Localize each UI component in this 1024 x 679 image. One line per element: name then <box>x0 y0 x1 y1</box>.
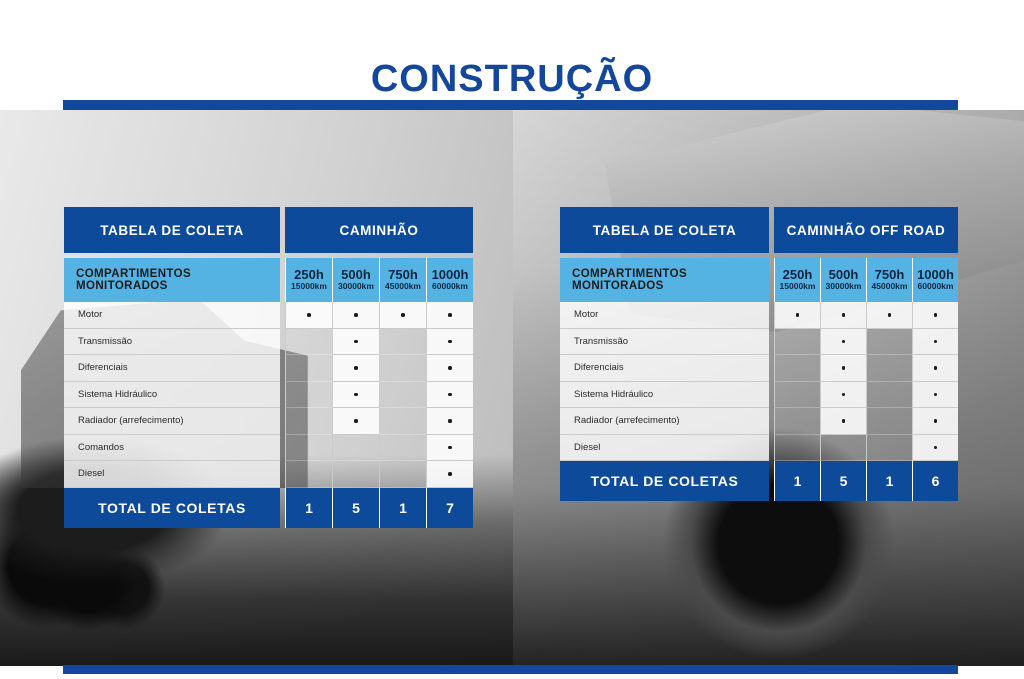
compartment-label: Motor <box>64 302 280 329</box>
bullet-icon <box>448 472 452 476</box>
interval-km: 60000km <box>918 282 954 292</box>
table-subheader-row: COMPARTIMENTOS MONITORADOS250h15000km500… <box>64 258 473 302</box>
interval-km: 15000km <box>291 282 327 292</box>
collection-mark-cell <box>866 302 912 329</box>
table-footer-row: TOTAL DE COLETAS1516 <box>560 461 958 501</box>
empty-cell <box>285 435 332 462</box>
footer-total-value: 1 <box>379 488 426 528</box>
table-row: Motor <box>560 302 958 329</box>
compartment-label: Diesel <box>560 435 769 462</box>
collection-mark-cell <box>426 302 473 329</box>
bullet-icon <box>842 340 846 344</box>
empty-cell <box>379 461 426 488</box>
interval-column-header: 250h15000km <box>285 258 332 302</box>
interval-column-header: 500h30000km <box>820 258 866 302</box>
table-footer-row: TOTAL DE COLETAS1517 <box>64 488 473 528</box>
empty-cell <box>774 355 820 382</box>
collection-mark-cell <box>820 302 866 329</box>
compartment-label: Radiador (arrefecimento) <box>64 408 280 435</box>
interval-km: 45000km <box>872 282 908 292</box>
empty-cell <box>332 435 379 462</box>
empty-cell <box>379 435 426 462</box>
compartment-label: Comandos <box>64 435 280 462</box>
bullet-icon <box>448 419 452 423</box>
table-header-row: TABELA DE COLETACAMINHÃO <box>64 207 473 253</box>
bullet-icon <box>354 419 358 423</box>
compartment-label: Sistema Hidráulico <box>64 382 280 409</box>
footer-total-value: 7 <box>426 488 473 528</box>
interval-column-header: 750h45000km <box>866 258 912 302</box>
collection-mark-cell <box>820 355 866 382</box>
collection-mark-cell <box>426 461 473 488</box>
bullet-icon <box>354 393 358 397</box>
interval-km: 45000km <box>385 282 421 292</box>
compartment-label: Transmissão <box>64 329 280 356</box>
compartment-label: Transmissão <box>560 329 769 356</box>
compartment-label: Motor <box>560 302 769 329</box>
interval-hours: 750h <box>388 268 418 282</box>
empty-cell <box>774 435 820 462</box>
table-row: Sistema Hidráulico <box>64 382 473 409</box>
collection-mark-cell <box>426 435 473 462</box>
interval-km: 30000km <box>826 282 862 292</box>
footer-total-value: 5 <box>820 461 866 501</box>
footer-total-value: 1 <box>866 461 912 501</box>
bullet-icon <box>934 313 938 317</box>
subheader-compartments-label: COMPARTIMENTOS MONITORADOS <box>64 258 280 302</box>
collection-mark-cell <box>426 329 473 356</box>
table-header-title: TABELA DE COLETA <box>64 207 280 253</box>
collection-mark-cell <box>912 302 958 329</box>
table-header-vehicle: CAMINHÃO OFF ROAD <box>774 207 958 253</box>
bullet-icon <box>401 313 405 317</box>
page-title: CONSTRUÇÃO <box>0 58 1024 101</box>
bullet-icon <box>796 313 800 317</box>
table-row: Diesel <box>560 435 958 462</box>
interval-column-header: 1000h60000km <box>912 258 958 302</box>
bullet-icon <box>448 313 452 317</box>
bullet-icon <box>934 340 938 344</box>
empty-cell <box>285 461 332 488</box>
title-underline-bar <box>63 100 958 110</box>
collection-mark-cell <box>332 302 379 329</box>
bullet-icon <box>842 419 846 423</box>
table-row: Transmissão <box>64 329 473 356</box>
empty-cell <box>866 355 912 382</box>
bullet-icon <box>354 366 358 370</box>
empty-cell <box>332 461 379 488</box>
compartment-label: Radiador (arrefecimento) <box>560 408 769 435</box>
bullet-icon <box>934 446 938 450</box>
collection-mark-cell <box>426 408 473 435</box>
table-row: Comandos <box>64 435 473 462</box>
interval-column-header: 1000h60000km <box>426 258 473 302</box>
empty-cell <box>285 329 332 356</box>
interval-hours: 500h <box>829 268 859 282</box>
page-title-wrap: CONSTRUÇÃO <box>0 58 1024 101</box>
interval-km: 30000km <box>338 282 374 292</box>
collection-mark-cell <box>285 302 332 329</box>
interval-hours: 500h <box>341 268 371 282</box>
empty-cell <box>774 382 820 409</box>
compartment-label: Diferenciais <box>64 355 280 382</box>
empty-cell <box>379 382 426 409</box>
collection-mark-cell <box>426 382 473 409</box>
collection-mark-cell <box>332 329 379 356</box>
bullet-icon <box>448 366 452 370</box>
empty-cell <box>866 408 912 435</box>
table-row: Diferenciais <box>560 355 958 382</box>
bullet-icon <box>842 393 846 397</box>
table-row: Radiador (arrefecimento) <box>560 408 958 435</box>
collection-mark-cell <box>912 435 958 462</box>
table-header-vehicle: CAMINHÃO <box>285 207 473 253</box>
compartment-label: Diesel <box>64 461 280 488</box>
interval-column-header: 750h45000km <box>379 258 426 302</box>
interval-hours: 1000h <box>432 268 469 282</box>
empty-cell <box>379 408 426 435</box>
bullet-icon <box>448 340 452 344</box>
interval-column-header: 500h30000km <box>332 258 379 302</box>
table-header-row: TABELA DE COLETACAMINHÃO OFF ROAD <box>560 207 958 253</box>
collection-mark-cell <box>820 382 866 409</box>
collection-mark-cell <box>820 329 866 356</box>
empty-cell <box>866 329 912 356</box>
interval-km: 15000km <box>780 282 816 292</box>
table-row: Diesel <box>64 461 473 488</box>
footer-total-value: 5 <box>332 488 379 528</box>
empty-cell <box>866 382 912 409</box>
collection-mark-cell <box>774 302 820 329</box>
footer-total-value: 6 <box>912 461 958 501</box>
footer-total-value: 1 <box>285 488 332 528</box>
footer-total-label: TOTAL DE COLETAS <box>64 488 280 528</box>
bullet-icon <box>448 393 452 397</box>
subheader-compartments-label: COMPARTIMENTOS MONITORADOS <box>560 258 769 302</box>
collection-mark-cell <box>912 329 958 356</box>
table-row: Diferenciais <box>64 355 473 382</box>
table-row: Transmissão <box>560 329 958 356</box>
table-header-title: TABELA DE COLETA <box>560 207 769 253</box>
collection-table-caminhao-off-road: TABELA DE COLETACAMINHÃO OFF ROADCOMPART… <box>560 207 958 501</box>
bullet-icon <box>934 366 938 370</box>
collection-mark-cell <box>912 408 958 435</box>
collection-table-caminhao: TABELA DE COLETACAMINHÃOCOMPARTIMENTOS M… <box>64 207 473 528</box>
collection-mark-cell <box>912 355 958 382</box>
collection-mark-cell <box>332 355 379 382</box>
empty-cell <box>866 435 912 462</box>
table-row: Sistema Hidráulico <box>560 382 958 409</box>
footer-total-value: 1 <box>774 461 820 501</box>
collection-mark-cell <box>820 408 866 435</box>
bullet-icon <box>842 366 846 370</box>
table-row: Motor <box>64 302 473 329</box>
collection-mark-cell <box>332 408 379 435</box>
collection-mark-cell <box>426 355 473 382</box>
bullet-icon <box>888 313 892 317</box>
table-subheader-row: COMPARTIMENTOS MONITORADOS250h15000km500… <box>560 258 958 302</box>
interval-column-header: 250h15000km <box>774 258 820 302</box>
compartment-label: Diferenciais <box>560 355 769 382</box>
empty-cell <box>379 329 426 356</box>
collection-mark-cell <box>379 302 426 329</box>
empty-cell <box>285 408 332 435</box>
empty-cell <box>285 382 332 409</box>
interval-hours: 1000h <box>917 268 954 282</box>
bullet-icon <box>842 313 846 317</box>
bullet-icon <box>934 419 938 423</box>
bullet-icon <box>934 393 938 397</box>
empty-cell <box>285 355 332 382</box>
interval-hours: 750h <box>875 268 905 282</box>
collection-mark-cell <box>332 382 379 409</box>
collection-mark-cell <box>912 382 958 409</box>
interval-hours: 250h <box>294 268 324 282</box>
table-row: Radiador (arrefecimento) <box>64 408 473 435</box>
empty-cell <box>379 355 426 382</box>
bullet-icon <box>354 313 358 317</box>
interval-km: 60000km <box>432 282 468 292</box>
empty-cell <box>820 435 866 462</box>
compartment-label: Sistema Hidráulico <box>560 382 769 409</box>
bullet-icon <box>448 446 452 450</box>
footer-bar <box>63 665 958 674</box>
bullet-icon <box>354 340 358 344</box>
footer-total-label: TOTAL DE COLETAS <box>560 461 769 501</box>
empty-cell <box>774 408 820 435</box>
bullet-icon <box>307 313 311 317</box>
interval-hours: 250h <box>783 268 813 282</box>
empty-cell <box>774 329 820 356</box>
